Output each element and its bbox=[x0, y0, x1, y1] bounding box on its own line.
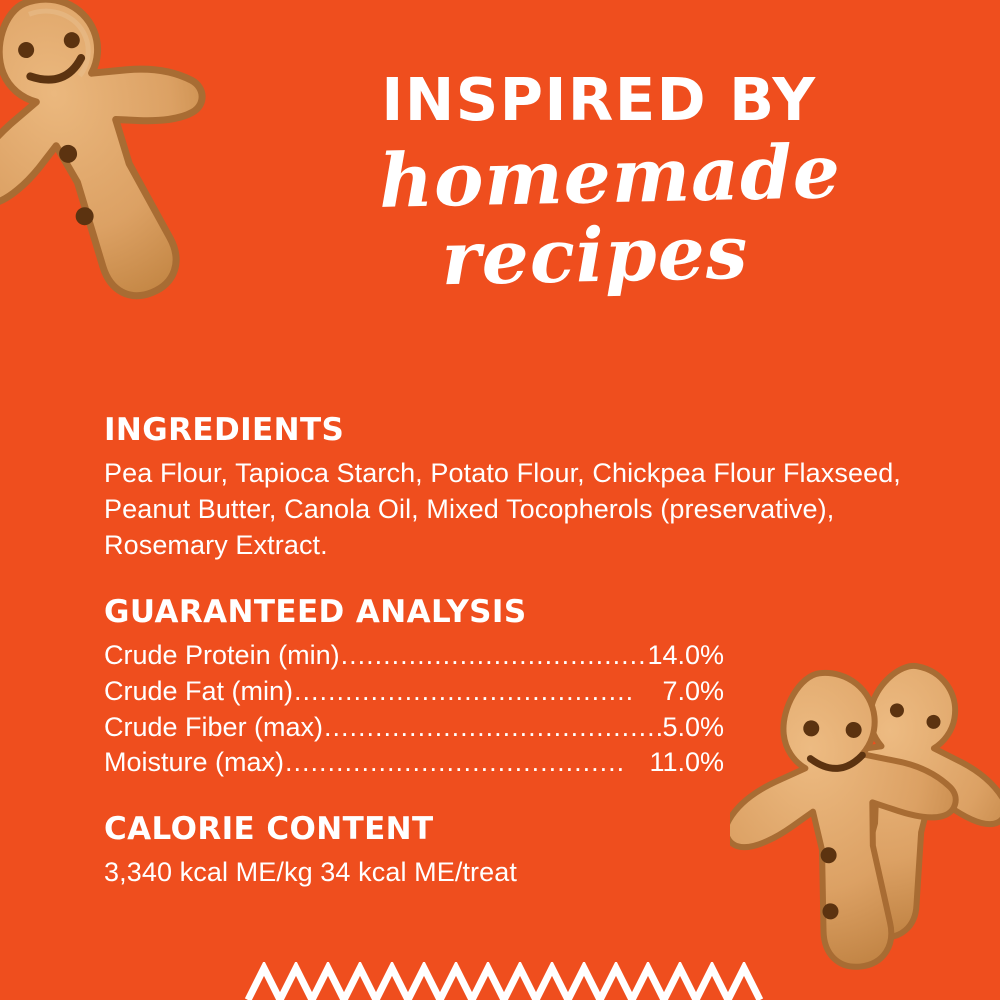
table-row: Crude Protein (min) ....................… bbox=[104, 638, 724, 674]
header-script-recipes: recipes bbox=[259, 213, 930, 300]
ga-dots: ........................................ bbox=[294, 674, 661, 710]
ga-label: Crude Protein (min) bbox=[104, 638, 340, 674]
table-row: Crude Fat (min) ........................… bbox=[104, 674, 724, 710]
ga-label: Crude Fiber (max) bbox=[104, 710, 323, 746]
gingerbread-man-cookie-icon bbox=[0, 0, 260, 392]
ga-value: 7.0% bbox=[662, 674, 724, 710]
ga-dots: ........................................ bbox=[285, 745, 648, 781]
ga-label: Crude Fat (min) bbox=[104, 674, 293, 710]
ga-value: 5.0% bbox=[662, 710, 724, 746]
header-block: INSPIRED BY homemade recipes bbox=[290, 70, 930, 292]
guaranteed-analysis-title: GUARANTEED ANALYSIS bbox=[104, 594, 924, 630]
ingredients-text: Pea Flour, Tapioca Starch, Potato Flour,… bbox=[104, 456, 924, 564]
header-line-inspired-by: INSPIRED BY bbox=[268, 70, 930, 129]
zigzag-chevron-border-icon bbox=[0, 962, 1000, 1000]
header-script-homemade: homemade bbox=[289, 134, 930, 220]
ingredients-title: INGREDIENTS bbox=[104, 412, 924, 448]
package-label-panel: INSPIRED BY homemade recipes INGREDIENTS… bbox=[0, 0, 1000, 1000]
ingredients-section: INGREDIENTS Pea Flour, Tapioca Starch, P… bbox=[104, 412, 924, 564]
gingerbread-man-cookie-pair-icon bbox=[730, 648, 1000, 978]
ga-label: Moisture (max) bbox=[104, 745, 284, 781]
table-row: Moisture (max) .........................… bbox=[104, 745, 724, 781]
ga-dots: ........................................ bbox=[341, 638, 647, 674]
ga-value: 14.0% bbox=[647, 638, 724, 674]
ga-value: 11.0% bbox=[649, 745, 724, 781]
table-row: Crude Fiber (max) ......................… bbox=[104, 710, 724, 746]
ga-dots: ........................................ bbox=[324, 710, 661, 746]
